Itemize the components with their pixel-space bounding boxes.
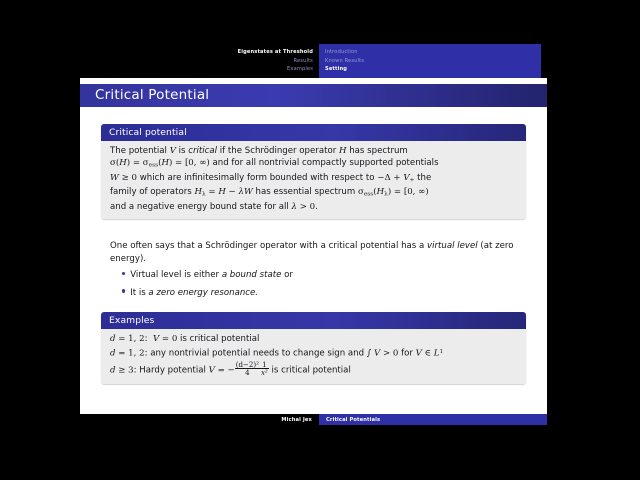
example-line-3-tail: is critical potential [269, 365, 351, 375]
hardy-numerator-2: 1 [260, 361, 269, 368]
hardy-fraction-2: 1x² [260, 361, 269, 377]
example-line-2: d = 1, 2: any nontrivial potential needs… [110, 346, 517, 360]
hardy-denominator: 4 [235, 368, 260, 376]
block-examples: Examples d = 1, 2: V = 0 is critical pot… [101, 312, 526, 384]
slide-navigation-bar: Eigenstates at Threshold Results Example… [80, 44, 547, 78]
nav-item-known-results[interactable]: Known Results [325, 57, 364, 66]
nav-subsection-group: Introduction Known Results Setting [319, 44, 541, 78]
bullet-dot-icon [122, 289, 125, 292]
list-item-0-emphasis: a bound state [222, 270, 282, 280]
list-item-text: Virtual level is either a bound state or [130, 269, 293, 282]
definition-line-4: family of operators Hλ = H − λW has esse… [110, 186, 517, 201]
virtual-level-paragraph-part1: One often says that a Schrödinger operat… [110, 241, 427, 251]
definition-line-1-b: is [176, 146, 188, 156]
example-line-1: d = 1, 2: V = 0 is critical potential [110, 333, 517, 345]
frame-title-bar: Critical Potential [80, 84, 547, 107]
definition-line-1: The potential V is critical if the Schrö… [110, 145, 517, 157]
block-critical-potential: Critical potential The potential V is cr… [101, 124, 526, 219]
hardy-numerator: (d−2)² [235, 361, 260, 368]
definition-line-2: σ(H) = σess(H) = [0, ∞) and for all nont… [110, 157, 517, 172]
list-item: It is a zero energy resonance. [122, 287, 522, 300]
definition-emphasis-critical: critical [188, 146, 217, 156]
footer-title: Critical Potentials [319, 414, 547, 425]
definition-line-1-d: has spectrum [346, 146, 407, 156]
list-item-text: It is a zero energy resonance. [130, 287, 258, 300]
slide-footer: Michal Jex Critical Potentials [80, 414, 547, 425]
nav-item-setting[interactable]: Setting [325, 65, 347, 74]
nav-item-results[interactable]: Results [294, 57, 313, 66]
nav-item-eigenstates-at-threshold[interactable]: Eigenstates at Threshold [238, 48, 313, 57]
page-title: Critical Potential [80, 88, 209, 103]
presentation-slide: Eigenstates at Threshold Results Example… [80, 44, 547, 425]
definition-line-3: W ≥ 0 which are infinitesimally form bou… [110, 172, 517, 187]
bullet-dot-icon [122, 272, 125, 275]
nav-section-group: Eigenstates at Threshold Results Example… [80, 44, 319, 78]
nav-item-examples[interactable]: Examples [287, 65, 313, 74]
block-title-critical-potential: Critical potential [101, 124, 526, 141]
block-body-examples: d = 1, 2: V = 0 is critical potential d … [101, 329, 526, 384]
virtual-level-paragraph: One often says that a Schrödinger operat… [110, 240, 520, 265]
definition-line-5: and a negative energy bound state for al… [110, 201, 517, 213]
definition-line-1-c: if the Schrödinger operator [217, 146, 339, 156]
block-body-critical-potential: The potential V is critical if the Schrö… [101, 141, 526, 220]
virtual-level-bullet-list: Virtual level is either a bound state or… [122, 269, 522, 304]
list-item-1-text-a: It is [130, 288, 148, 298]
footer-author: Michal Jex [80, 414, 319, 425]
list-item-0-text-b: or [281, 270, 293, 280]
nav-item-introduction[interactable]: Introduction [325, 48, 358, 57]
hardy-denominator-2: x² [260, 368, 269, 376]
list-item-1-emphasis: a zero energy resonance. [148, 288, 258, 298]
definition-line-1-a: The potential [110, 146, 170, 156]
list-item: Virtual level is either a bound state or [122, 269, 522, 282]
hardy-fraction-1: (d−2)²4 [235, 361, 260, 377]
list-item-0-text-a: Virtual level is either [130, 270, 222, 280]
example-line-3: d ≥ 3: Hardy potential V = −(d−2)²41x² i… [110, 361, 517, 377]
video-player-viewport: Eigenstates at Threshold Results Example… [0, 0, 640, 480]
virtual-level-emphasis: virtual level [427, 241, 478, 251]
block-title-examples: Examples [101, 312, 526, 329]
